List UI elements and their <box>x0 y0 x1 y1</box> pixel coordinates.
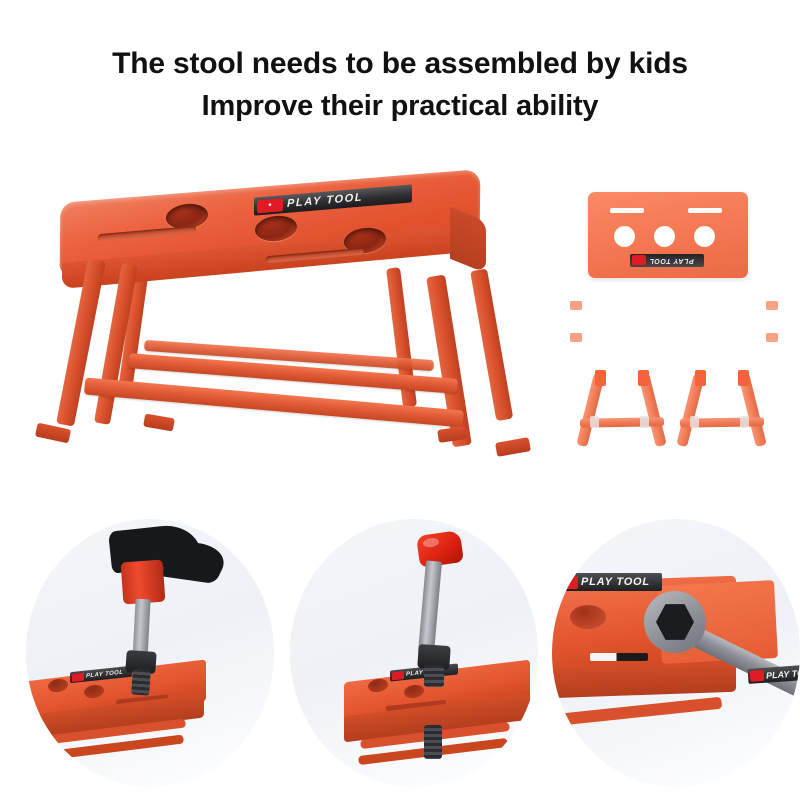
parts-breakdown-photo: PLAY TOOL <box>566 192 784 482</box>
part-brace-bar-2 <box>580 332 768 343</box>
leg-frame-left-tenon-a <box>595 370 606 386</box>
screwdriver-thread-above <box>424 665 444 687</box>
d3-seat-slot <box>590 653 648 661</box>
headline-line-2: Improve their practical ability <box>0 89 800 124</box>
brace-bar-2-tip-left <box>570 333 582 342</box>
stool-foot-2 <box>143 413 175 431</box>
detail-photo-row: PLAY TOOL PLA <box>0 505 800 800</box>
leg-frame-right-joint-a <box>690 416 699 428</box>
play-tool-logo-mark-icon: ● <box>257 198 283 213</box>
brace-bar-1-tip-left <box>570 301 582 310</box>
d3-brand-badge: PLAY TOOL <box>558 573 662 591</box>
part-panel-hole-3 <box>694 226 715 247</box>
hammer-red-grip <box>121 560 166 605</box>
detail-photo-socket-wrench: PLAY TOOL PLAY TOOL <box>552 519 800 787</box>
play-tool-logo-mark-icon <box>560 576 578 589</box>
headline-line-1: The stool needs to be assembled by kids <box>0 46 800 81</box>
play-tool-logo-mark-icon <box>72 672 84 681</box>
screwdriver-gray-shaft <box>418 560 442 653</box>
stool-foot-3 <box>495 437 531 457</box>
leg-frame-right-tenon-a <box>695 370 706 386</box>
part-leg-frame-right <box>678 370 766 456</box>
leg-frame-left-tenon-b <box>638 370 649 386</box>
driver-black-thread <box>131 668 151 695</box>
brand-badge-text: PLAY TOOL <box>287 191 363 209</box>
part-panel-hole-2 <box>654 226 675 247</box>
leg-frame-left-joint-b <box>640 416 649 428</box>
leg-frame-left-joint-a <box>590 416 599 428</box>
leg-frame-right-joint-b <box>740 416 749 428</box>
part-panel-hole-1 <box>614 226 635 247</box>
brace-bar-2-tip-right <box>766 333 778 342</box>
screwdriver-thread-below <box>424 725 442 759</box>
d3-badge-text: PLAY TOOL <box>581 576 650 588</box>
play-tool-logo-mark-icon <box>750 670 765 682</box>
stool-foot-1 <box>35 423 71 444</box>
part-panel-slot-1 <box>610 208 644 213</box>
d3-rail <box>562 697 722 726</box>
hero-stool-photo: ● PLAY TOOL <box>18 178 548 498</box>
part-brace-bar-1 <box>580 300 768 311</box>
d3-secondary-badge-text: PLAY TOOL <box>766 667 800 680</box>
part-seat-panel: PLAY TOOL <box>588 192 748 278</box>
part-panel-slot-2 <box>688 208 722 213</box>
stool-leg-front-right-outer <box>470 269 513 422</box>
detail-photo-hammer-driver: PLAY TOOL <box>26 519 274 787</box>
play-tool-logo-mark-icon <box>392 671 404 680</box>
d1-badge-text: PLAY TOOL <box>86 669 123 679</box>
product-image-canvas: The stool needs to be assembled by kids … <box>0 0 800 800</box>
play-tool-logo-mark-icon <box>632 256 646 266</box>
part-panel-badge-text: PLAY TOOL <box>649 257 694 264</box>
headline-block: The stool needs to be assembled by kids … <box>0 46 800 125</box>
part-leg-frame-left <box>578 370 666 456</box>
leg-frame-right-tenon-b <box>738 370 749 386</box>
brand-badge-part-panel: PLAY TOOL <box>630 254 704 267</box>
detail-photo-screwdriver: PLAY TOOL <box>290 519 538 787</box>
stool-seat-right-edge <box>450 207 486 274</box>
d3-seat-hole <box>570 605 606 629</box>
brace-bar-1-tip-right <box>766 301 778 310</box>
d3-seat-front-edge <box>552 662 736 699</box>
